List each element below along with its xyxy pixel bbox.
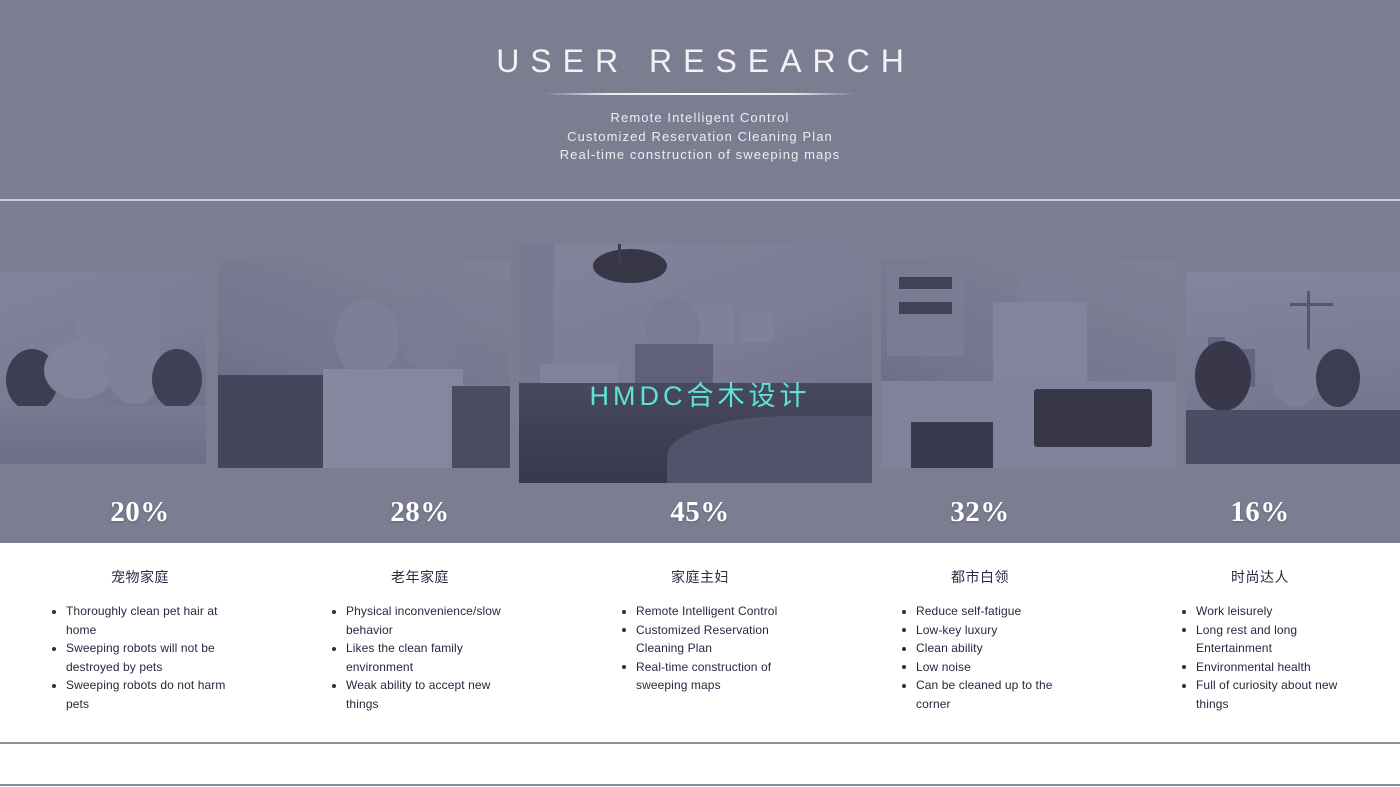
segment-title: 时尚达人 (1120, 568, 1400, 586)
footer-divider-top (0, 742, 1400, 744)
details-columns: 宠物家庭 Thoroughly clean pet hair at home S… (0, 543, 1400, 714)
list-item: Real-time construction of sweeping maps (622, 658, 797, 695)
percentage-value: 28% (390, 496, 450, 528)
list-item: Can be cleaned up to the corner (902, 676, 1077, 713)
segment-photo-elderly-family (218, 262, 510, 468)
segment-photo-pet-family (0, 272, 206, 464)
segment-title: 宠物家庭 (0, 568, 280, 586)
list-item: Physical inconvenience/slow behavior (332, 602, 512, 639)
percentage-cell-1: 20% (0, 494, 280, 543)
segment-column-trendsetter: 时尚达人 Work leisurely Long rest and long E… (1120, 543, 1400, 714)
list-item: Likes the clean family environment (332, 639, 512, 676)
list-item: Clean ability (902, 639, 1077, 658)
list-item: Customized Reservation Cleaning Plan (622, 621, 797, 658)
percentage-row: 20% 28% 45% 32% 16% (0, 494, 1400, 543)
segment-bullet-list: Remote Intelligent Control Customized Re… (622, 602, 797, 695)
segment-title: 老年家庭 (280, 568, 560, 586)
list-item: Remote Intelligent Control (622, 602, 797, 621)
list-item: Low noise (902, 658, 1077, 677)
list-item: Environmental health (1182, 658, 1357, 677)
list-item: Work leisurely (1182, 602, 1357, 621)
segment-title: 都市白领 (840, 568, 1120, 586)
list-item: Long rest and long Entertainment (1182, 621, 1357, 658)
list-item: Reduce self-fatigue (902, 602, 1077, 621)
details-section: 宠物家庭 Thoroughly clean pet hair at home S… (0, 543, 1400, 787)
list-item: Sweeping robots do not harm pets (52, 676, 232, 713)
segment-photo-housewife (519, 244, 872, 483)
list-item: Full of curiosity about new things (1182, 676, 1357, 713)
segment-bullet-list: Reduce self-fatigue Low-key luxury Clean… (902, 602, 1077, 714)
segment-column-office-worker: 都市白领 Reduce self-fatigue Low-key luxury … (840, 543, 1120, 714)
percentage-cell-3: 45% (560, 494, 840, 543)
segment-bullet-list: Thoroughly clean pet hair at home Sweepi… (52, 602, 232, 714)
segment-photo-office-worker (881, 260, 1176, 468)
percentage-value: 20% (110, 496, 170, 528)
percentage-cell-2: 28% (280, 494, 560, 543)
segment-title: 家庭主妇 (560, 568, 840, 586)
photo-strip: HMDC合木设计 (0, 0, 1400, 543)
segment-column-housewife: 家庭主妇 Remote Intelligent Control Customiz… (560, 543, 840, 714)
segment-column-elderly-family: 老年家庭 Physical inconvenience/slow behavio… (280, 543, 560, 714)
segment-column-pet-family: 宠物家庭 Thoroughly clean pet hair at home S… (0, 543, 280, 714)
list-item: Sweeping robots will not be destroyed by… (52, 639, 232, 676)
percentage-cell-5: 16% (1120, 494, 1400, 543)
percentage-value: 45% (670, 496, 730, 528)
percentage-value: 16% (1230, 496, 1290, 528)
percentage-value: 32% (950, 496, 1010, 528)
hero-band: USER RESEARCH Remote Intelligent Control… (0, 0, 1400, 543)
segment-photo-trendsetter (1186, 272, 1400, 464)
segment-bullet-list: Physical inconvenience/slow behavior Lik… (332, 602, 512, 714)
percentage-cell-4: 32% (840, 494, 1120, 543)
footer-divider-bottom (0, 784, 1400, 786)
list-item: Weak ability to accept new things (332, 676, 512, 713)
list-item: Low-key luxury (902, 621, 1077, 640)
list-item: Thoroughly clean pet hair at home (52, 602, 232, 639)
segment-bullet-list: Work leisurely Long rest and long Entert… (1182, 602, 1357, 714)
